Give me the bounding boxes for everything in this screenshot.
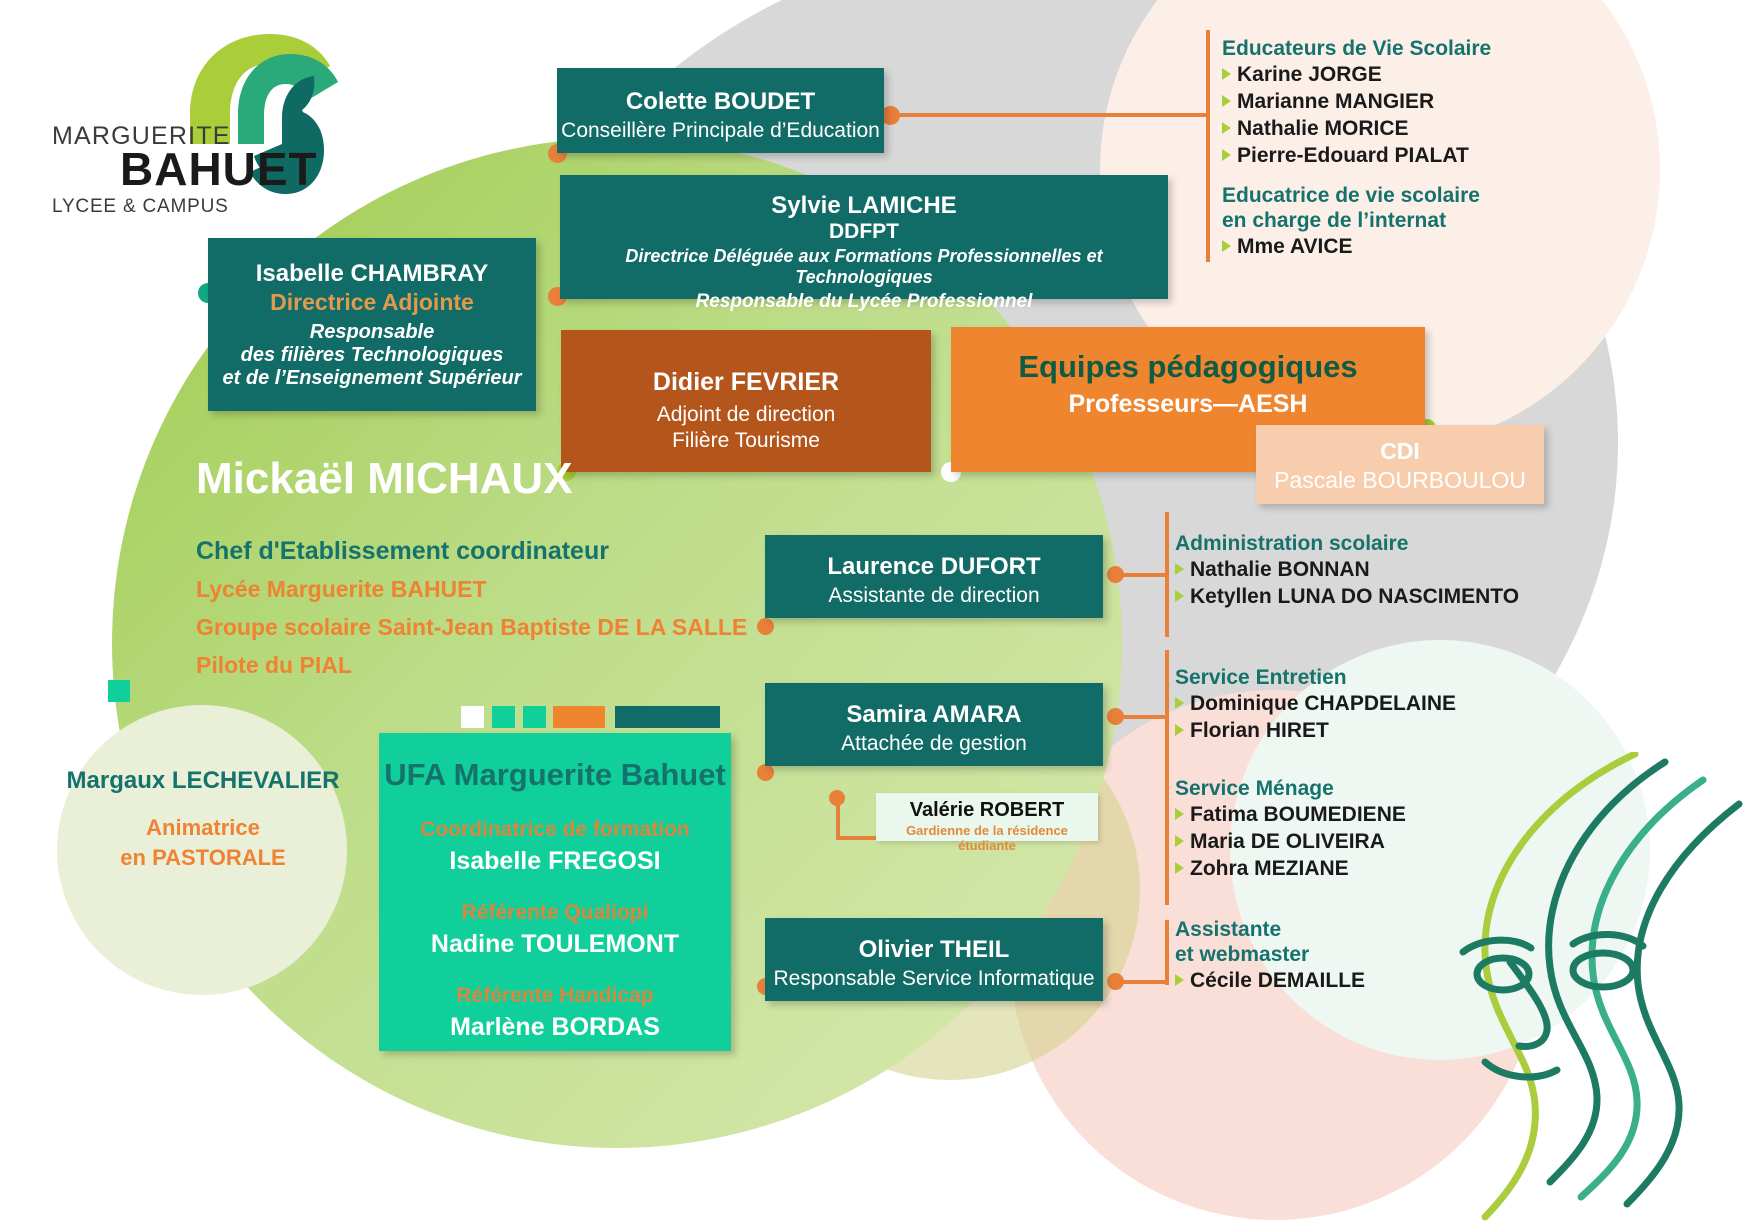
member-name: Maria DE OLIVEIRA <box>1190 830 1385 853</box>
lamiche-role-line2: Responsable du Lycée Professionnel <box>560 291 1168 313</box>
node-dot-amara-right <box>1107 708 1124 725</box>
group-assistante-heading-line1: Assistante <box>1175 917 1365 942</box>
list-item: Nathalie MORICE <box>1222 115 1491 142</box>
decor-square-orange <box>553 706 605 728</box>
node-dot-amara-left <box>757 764 774 781</box>
ufa-role-label-2: Référente Handicap <box>379 984 731 1008</box>
group-internat-heading-line2: en charge de l’internat <box>1222 208 1480 233</box>
member-name: Ketyllen LUNA DO NASCIMENTO <box>1190 585 1519 608</box>
ufa-role-person-2: Marlène BORDAS <box>379 1013 731 1042</box>
ufa-role-label-0: Coordinatrice de formation <box>379 818 731 842</box>
node-dot-dufort-right <box>1107 566 1124 583</box>
cdi-person: Pascale BOURBOULOU <box>1256 467 1544 494</box>
member-name: Cécile DEMAILLE <box>1190 969 1365 992</box>
bullet-triangle-icon <box>1175 862 1184 874</box>
list-item: Karine JORGE <box>1222 61 1491 88</box>
lamiche-name: Sylvie LAMICHE <box>560 192 1168 220</box>
bullet-triangle-icon <box>1222 149 1231 161</box>
box-cdi[interactable]: CDI Pascale BOURBOULOU <box>1256 425 1544 504</box>
michaux-name: Mickaël MICHAUX <box>196 452 796 506</box>
michaux-sub-pial: Pilote du PIAL <box>196 646 796 684</box>
fevrier-title-line1: Adjoint de direction <box>561 403 931 427</box>
bullet-triangle-icon <box>1175 724 1184 736</box>
robert-title: Gardienne de la résidence étudiante <box>876 823 1098 853</box>
michaux-role: Chef d'Etablissement coordinateur <box>196 532 796 570</box>
chambray-role: Directrice Adjointe <box>208 289 536 316</box>
ufa-role-person-1: Nadine TOULEMONT <box>379 930 731 959</box>
chambray-detail-line3: et de l’Enseignement Supérieur <box>208 367 536 390</box>
logo-line-lycee-campus: LYCEE & CAMPUS <box>52 196 229 218</box>
member-name: Dominique CHAPDELAINE <box>1190 692 1456 715</box>
box-olivier-theil[interactable]: Olivier THEIL Responsable Service Inform… <box>765 918 1103 1001</box>
box-samira-amara[interactable]: Samira AMARA Attachée de gestion <box>765 683 1103 766</box>
robert-name: Valérie ROBERT <box>876 799 1098 822</box>
decor-square-emerald-1 <box>492 706 515 728</box>
connector-vertical-assistante <box>1165 920 1169 985</box>
list-item: Fatima BOUMEDIENE <box>1175 801 1406 828</box>
list-item: Ketyllen LUNA DO NASCIMENTO <box>1175 583 1519 610</box>
group-educateurs-heading: Educateurs de Vie Scolaire <box>1222 36 1491 61</box>
member-name: Nathalie MORICE <box>1237 117 1409 140</box>
amara-title: Attachée de gestion <box>765 732 1103 756</box>
box-valerie-robert[interactable]: Valérie ROBERT Gardienne de la résidence… <box>876 793 1098 841</box>
connector-vertical-educateurs <box>1206 30 1210 262</box>
school-logo: MARGUERITE BAHUET LYCEE & CAMPUS <box>42 14 342 214</box>
list-item: Mme AVICE <box>1222 233 1480 260</box>
ufa-role-person-0: Isabelle FREGOSI <box>379 847 731 876</box>
group-educatrice-internat: Educatrice de vie scolaire en charge de … <box>1222 183 1480 260</box>
bullet-triangle-icon <box>1175 697 1184 709</box>
logo-line-bahuet: BAHUET <box>120 142 318 196</box>
box-isabelle-chambray[interactable]: Isabelle CHAMBRAY Directrice Adjointe Re… <box>208 238 536 411</box>
node-square-margaux <box>108 680 130 702</box>
box-sylvie-lamiche[interactable]: Sylvie LAMICHE DDFPT Directrice Déléguée… <box>560 175 1168 299</box>
box-laurence-dufort[interactable]: Laurence DUFORT Assistante de direction <box>765 535 1103 618</box>
ufa-header: UFA Marguerite Bahuet <box>379 757 731 793</box>
decor-square-white <box>461 706 484 728</box>
theil-name: Olivier THEIL <box>765 936 1103 964</box>
fevrier-title-line2: Filière Tourisme <box>561 429 931 453</box>
member-name: Zohra MEZIANE <box>1190 857 1349 880</box>
group-internat-heading-line1: Educatrice de vie scolaire <box>1222 183 1480 208</box>
lamiche-acronym: DDFPT <box>560 220 1168 244</box>
bullet-triangle-icon <box>1175 835 1184 847</box>
list-item: Dominique CHAPDELAINE <box>1175 690 1456 717</box>
lamiche-role-line1: Directrice Déléguée aux Formations Profe… <box>560 246 1168 288</box>
group-service-menage: Service Ménage Fatima BOUMEDIENE Maria D… <box>1175 776 1406 882</box>
group-educateurs-vie-scolaire: Educateurs de Vie Scolaire Karine JORGE … <box>1222 36 1491 169</box>
bullet-triangle-icon <box>1175 563 1184 575</box>
margaux-name: Margaux LECHEVALIER <box>62 765 344 797</box>
group-administration-heading: Administration scolaire <box>1175 531 1519 556</box>
dufort-title: Assistante de direction <box>765 584 1103 608</box>
chambray-detail-line2: des filières Technologiques <box>208 344 536 367</box>
connector-horizontal-robert <box>836 836 878 840</box>
fevrier-name: Didier FEVRIER <box>561 368 931 397</box>
member-name: Mme AVICE <box>1237 235 1353 258</box>
bullet-triangle-icon <box>1175 808 1184 820</box>
member-name: Florian HIRET <box>1190 719 1329 742</box>
equipes-subtitle: Professeurs—AESH <box>951 390 1425 419</box>
bullet-triangle-icon <box>1175 974 1184 986</box>
box-didier-fevrier[interactable]: Didier FEVRIER Adjoint de direction Fili… <box>561 330 931 472</box>
member-name: Marianne MANGIER <box>1237 90 1434 113</box>
list-item: Zohra MEZIANE <box>1175 855 1406 882</box>
list-item: Pierre-Edouard PIALAT <box>1222 142 1491 169</box>
member-name: Nathalie BONNAN <box>1190 558 1370 581</box>
pastorale-circle-block: Margaux LECHEVALIER Animatrice en PASTOR… <box>62 765 344 873</box>
bullet-triangle-icon <box>1222 240 1231 252</box>
connector-vertical-services <box>1165 650 1169 905</box>
list-item: Marianne MANGIER <box>1222 88 1491 115</box>
bullet-triangle-icon <box>1222 68 1231 80</box>
dufort-name: Laurence DUFORT <box>765 553 1103 581</box>
margaux-role-line2: en PASTORALE <box>62 843 344 873</box>
equipes-title: Equipes pédagogiques <box>951 349 1425 385</box>
group-assistante-heading-line2: et webmaster <box>1175 942 1365 967</box>
group-service-entretien: Service Entretien Dominique CHAPDELAINE … <box>1175 665 1456 744</box>
decor-square-teal <box>615 706 720 728</box>
bullet-triangle-icon <box>1222 122 1231 134</box>
list-item: Cécile DEMAILLE <box>1175 967 1365 994</box>
bullet-triangle-icon <box>1175 590 1184 602</box>
decor-square-emerald-2 <box>523 706 546 728</box>
cdi-title: CDI <box>1256 438 1544 465</box>
amara-name: Samira AMARA <box>765 701 1103 729</box>
list-item: Maria DE OLIVEIRA <box>1175 828 1406 855</box>
org-chart-canvas: MARGUERITE BAHUET LYCEE & CAMPUS Colette… <box>0 0 1755 1232</box>
member-name: Fatima BOUMEDIENE <box>1190 803 1406 826</box>
member-name: Pierre-Edouard PIALAT <box>1237 144 1469 167</box>
group-administration-scolaire: Administration scolaire Nathalie BONNAN … <box>1175 531 1519 610</box>
ufa-role-label-1: Référente Qualiopi <box>379 901 731 925</box>
theil-title: Responsable Service Informatique <box>765 967 1103 991</box>
michaux-sub-groupe: Groupe scolaire Saint-Jean Baptiste DE L… <box>196 608 796 646</box>
chambray-detail-line1: Responsable <box>208 321 536 344</box>
bullet-triangle-icon <box>1222 95 1231 107</box>
michaux-sub-lycee: Lycée Marguerite BAHUET <box>196 570 796 608</box>
node-dot-robert <box>829 790 845 806</box>
boudet-title: Conseillère Principale d’Education <box>557 119 884 143</box>
connector-boudet-to-educateurs <box>888 113 1208 117</box>
boudet-name: Colette BOUDET <box>557 88 884 116</box>
list-item: Florian HIRET <box>1175 717 1456 744</box>
chambray-name: Isabelle CHAMBRAY <box>208 260 536 288</box>
member-name: Karine JORGE <box>1237 63 1382 86</box>
margaux-role-line1: Animatrice <box>62 813 344 843</box>
group-assistante-webmaster: Assistante et webmaster Cécile DEMAILLE <box>1175 917 1365 994</box>
list-item: Nathalie BONNAN <box>1175 556 1519 583</box>
node-dot-theil-right <box>1107 973 1124 990</box>
group-menage-heading: Service Ménage <box>1175 776 1406 801</box>
chef-etablissement-block: Mickaël MICHAUX Chef d'Etablissement coo… <box>196 452 796 684</box>
box-colette-boudet[interactable]: Colette BOUDET Conseillère Principale d’… <box>557 68 884 153</box>
group-entretien-heading: Service Entretien <box>1175 665 1456 690</box>
box-ufa-marguerite-bahuet[interactable]: UFA Marguerite Bahuet Coordinatrice de f… <box>379 733 731 1051</box>
